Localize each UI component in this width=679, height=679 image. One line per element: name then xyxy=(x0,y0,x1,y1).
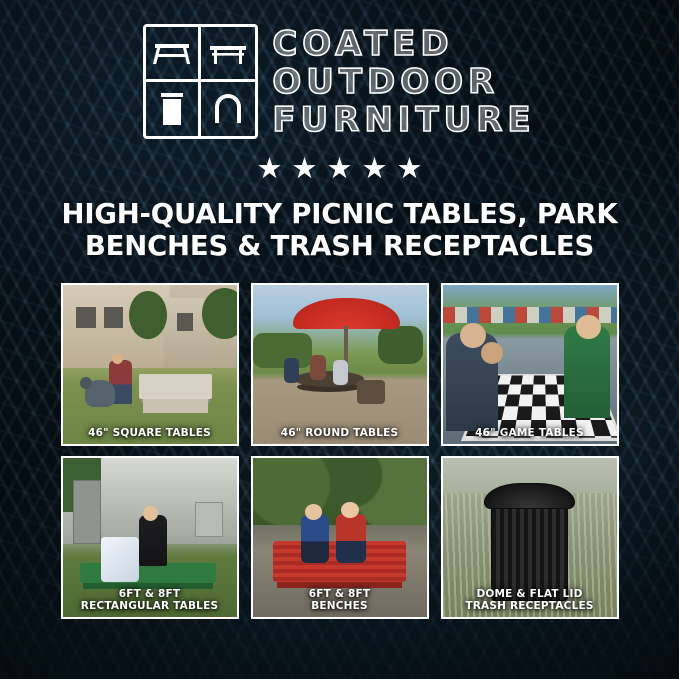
product-card-game-tables[interactable]: 46" GAME TABLES xyxy=(441,283,619,446)
logo-mark xyxy=(143,24,258,139)
product-caption: 46" ROUND TABLES xyxy=(253,424,427,444)
headline-line-2: BENCHES & TRASH RECEPTACLES xyxy=(40,230,640,262)
star-rating: ★ ★ ★ ★ ★ xyxy=(257,155,423,184)
product-card-square-tables[interactable]: 46" SQUARE TABLES xyxy=(61,283,239,446)
product-caption-line-1: DOME & FLAT LID xyxy=(445,588,615,600)
product-caption: 46" SQUARE TABLES xyxy=(63,424,237,444)
product-caption-line-1: 6FT & 8FT xyxy=(255,588,425,600)
product-card-benches[interactable]: 6FT & 8FT BENCHES xyxy=(251,456,429,619)
logo-word-2: OUTDOOR xyxy=(272,65,535,100)
product-caption-line-1: 46" GAME TABLES xyxy=(445,427,615,439)
logo-word-3: FURNITURE xyxy=(272,103,535,138)
product-caption-line-2: TRASH RECEPTACLES xyxy=(445,600,615,612)
brand-logo: COATED OUTDOOR FURNITURE xyxy=(143,24,535,139)
product-grid: 46" SQUARE TABLES 46" ROUND TABLES xyxy=(61,283,619,619)
poster: COATED OUTDOOR FURNITURE ★ ★ ★ ★ ★ HIGH-… xyxy=(0,0,679,679)
picnic-table-icon xyxy=(146,27,201,82)
product-caption-line-1: 6FT & 8FT xyxy=(65,588,235,600)
star-icon-5: ★ xyxy=(397,155,423,184)
headline: HIGH-QUALITY PICNIC TABLES, PARK BENCHES… xyxy=(40,198,640,263)
trash-receptacle-icon xyxy=(146,82,201,137)
product-photo-square-tables xyxy=(63,285,237,444)
product-card-rectangular-tables[interactable]: 6FT & 8FT RECTANGULAR TABLES xyxy=(61,456,239,619)
headline-line-1: HIGH-QUALITY PICNIC TABLES, PARK xyxy=(40,198,640,230)
product-caption: DOME & FLAT LID TRASH RECEPTACLES xyxy=(443,585,617,617)
product-caption-line-2: BENCHES xyxy=(255,600,425,612)
logo-wordmark: COATED OUTDOOR FURNITURE xyxy=(272,25,535,137)
product-caption: 6FT & 8FT RECTANGULAR TABLES xyxy=(63,585,237,617)
park-bench-icon xyxy=(201,27,256,82)
product-photo-round-tables xyxy=(253,285,427,444)
star-icon-4: ★ xyxy=(362,155,388,184)
logo-word-1: COATED xyxy=(272,27,535,62)
product-photo-game-tables xyxy=(443,285,617,444)
arch-bench-icon xyxy=(201,82,256,137)
product-caption-line-1: 46" SQUARE TABLES xyxy=(65,427,235,439)
product-caption-line-1: 46" ROUND TABLES xyxy=(255,427,425,439)
product-card-trash-receptacles[interactable]: DOME & FLAT LID TRASH RECEPTACLES xyxy=(441,456,619,619)
star-icon-1: ★ xyxy=(257,155,283,184)
product-caption: 46" GAME TABLES xyxy=(443,424,617,444)
product-caption-line-2: RECTANGULAR TABLES xyxy=(65,600,235,612)
product-caption: 6FT & 8FT BENCHES xyxy=(253,585,427,617)
star-icon-2: ★ xyxy=(292,155,318,184)
product-card-round-tables[interactable]: 46" ROUND TABLES xyxy=(251,283,429,446)
star-icon-3: ★ xyxy=(327,155,353,184)
